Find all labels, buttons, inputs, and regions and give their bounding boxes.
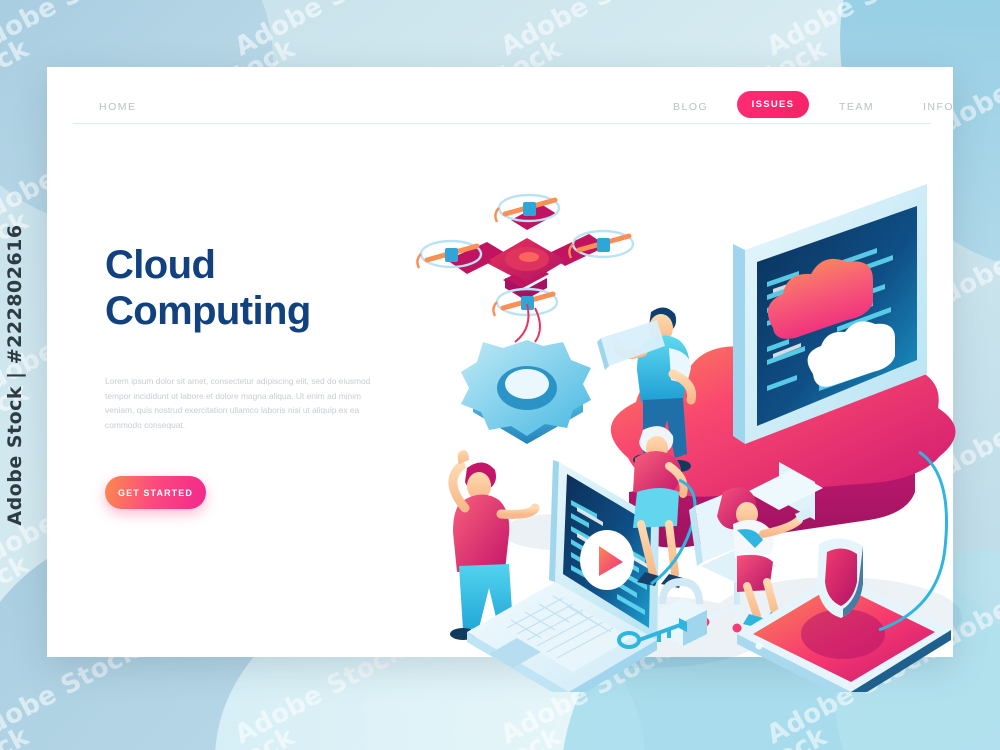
hero-paragraph: Lorem ipsum dolor sit amet, consectetur … bbox=[105, 374, 377, 432]
title-line-2: Computing bbox=[105, 289, 311, 333]
landing-page-card: HOME BLOG ISSUES TEAM INFO Cloud Computi… bbox=[47, 67, 953, 657]
hero-section: Cloud Computing Lorem ipsum dolor sit am… bbox=[105, 242, 405, 509]
nav-item-team[interactable]: TEAM bbox=[839, 101, 874, 113]
nav-item-info[interactable]: INFO bbox=[923, 101, 954, 113]
page-title: Cloud Computing bbox=[105, 242, 405, 334]
gear-cog bbox=[461, 340, 591, 444]
quadcopter-drone bbox=[417, 195, 633, 342]
stock-id-strip: Adobe Stock | #222802616 bbox=[0, 0, 30, 750]
nav-divider bbox=[73, 123, 931, 124]
nav-item-home[interactable]: HOME bbox=[99, 101, 137, 113]
title-line-1: Cloud bbox=[105, 243, 215, 287]
stock-id-text: Adobe Stock | #222802616 bbox=[4, 224, 26, 525]
get-started-button[interactable]: GET STARTED bbox=[105, 476, 206, 509]
nav-item-blog[interactable]: BLOG bbox=[673, 101, 708, 113]
nav-item-issues[interactable]: ISSUES bbox=[737, 91, 809, 118]
isometric-illustration bbox=[407, 162, 967, 692]
main-navigation[interactable]: HOME BLOG ISSUES TEAM INFO bbox=[73, 89, 931, 131]
